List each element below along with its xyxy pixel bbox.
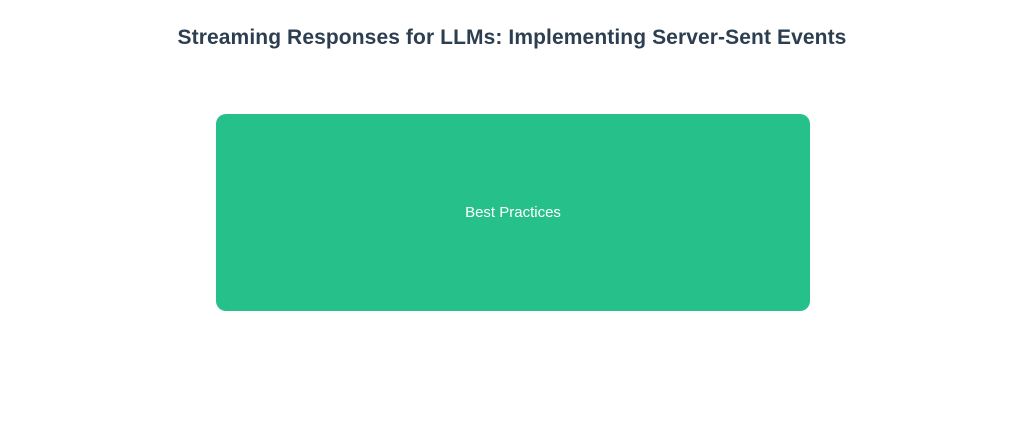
page-title: Streaming Responses for LLMs: Implementi… [0, 26, 1024, 50]
diagram-node-label: Best Practices [465, 204, 561, 222]
diagram-node-best-practices[interactable]: Best Practices [216, 114, 810, 311]
diagram-canvas: Streaming Responses for LLMs: Implementi… [0, 0, 1024, 429]
